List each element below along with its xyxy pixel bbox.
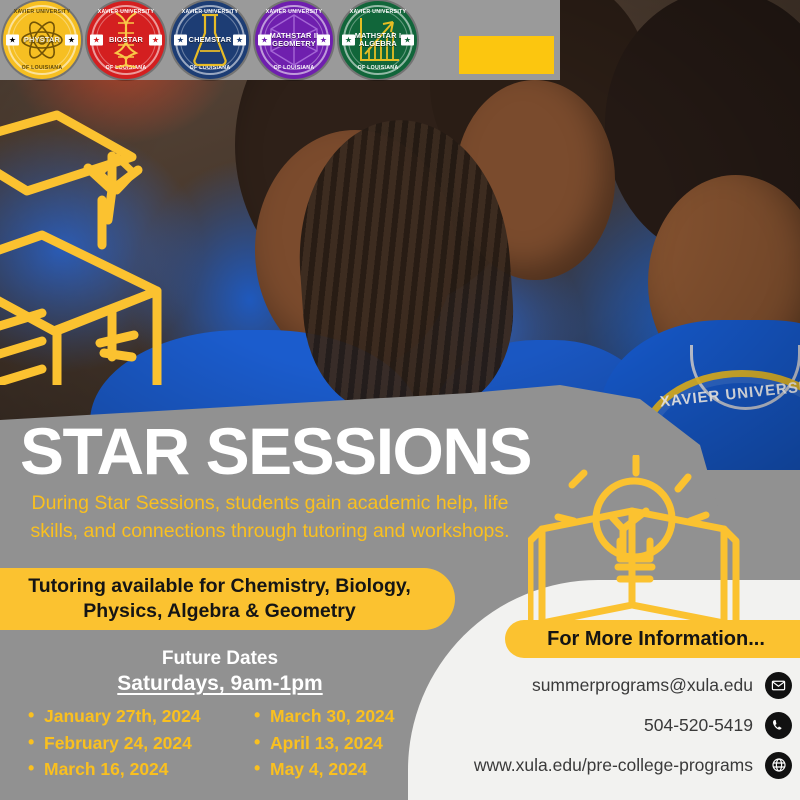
star-icon: ★ xyxy=(6,35,19,46)
star-icon: ★ xyxy=(401,35,414,46)
dates-columns: January 27th, 2024 February 24, 2024 Mar… xyxy=(28,703,428,783)
list-item: April 13, 2024 xyxy=(254,730,424,757)
seal-name: CHEMSTAR xyxy=(189,36,232,44)
contact-row-website[interactable]: www.xula.edu/pre-college-programs xyxy=(420,745,800,785)
seal-disc: XAVIER UNIVERSITY ★ ★ PHYSTAR OF LOUISIA… xyxy=(3,1,81,79)
contact-website[interactable]: www.xula.edu/pre-college-programs xyxy=(474,755,753,776)
contact-list: summerprograms@xula.edu 504-520-5419 www… xyxy=(420,665,800,785)
seal-name: BIOSTAR xyxy=(109,36,143,44)
seal-disc: XAVIER UNIVERSITY ★ ★ MATHSTAR I ALGEBRA… xyxy=(339,1,417,79)
seal-name-box: MATHSTAR I ALGEBRA xyxy=(351,30,405,50)
seal-disc: XAVIER UNIVERSITY ★ ★ CHEMSTAR OF LOUISI… xyxy=(171,1,249,79)
seal-phystar[interactable]: XAVIER UNIVERSITY ★ ★ PHYSTAR OF LOUISIA… xyxy=(0,0,84,80)
star-icon: ★ xyxy=(149,35,162,46)
list-item: January 27th, 2024 xyxy=(28,703,240,730)
star-icon: ★ xyxy=(258,35,271,46)
list-item: May 4, 2024 xyxy=(254,756,424,783)
more-info-label: For More Information... xyxy=(547,628,783,651)
poster-root: XAVIER UNIVERSITY xyxy=(0,0,800,800)
email-icon xyxy=(765,672,792,699)
program-seal-list: XAVIER UNIVERSITY ★ ★ PHYSTAR OF LOUISIA… xyxy=(0,0,420,80)
dates-heading-block: Future Dates Saturdays, 9am-1pm xyxy=(20,648,420,696)
star-icon: ★ xyxy=(90,35,103,46)
dates-heading: Future Dates xyxy=(20,648,420,670)
tutoring-banner: Tutoring available for Chemistry, Biolog… xyxy=(0,568,455,630)
list-item: March 30, 2024 xyxy=(254,703,424,730)
seal-biostar[interactable]: XAVIER UNIVERSITY ★ ★ BIOSTAR OF LOUISIA… xyxy=(84,0,168,80)
seal-disc: XAVIER UNIVERSITY ★ ★ BIOSTAR OF LOUISIA… xyxy=(87,1,165,79)
seal-name: PHYSTAR xyxy=(24,36,60,44)
seal-subname: ALGEBRA xyxy=(355,40,401,48)
lightbulb-book-icon xyxy=(528,455,743,635)
description-text: During Star Sessions, students gain acad… xyxy=(20,490,520,545)
phone-icon xyxy=(765,712,792,739)
contact-row-email[interactable]: summerprograms@xula.edu xyxy=(420,665,800,705)
list-item: February 24, 2024 xyxy=(28,730,240,757)
seal-subname: GEOMETRY xyxy=(270,40,319,48)
star-icon: ★ xyxy=(317,35,330,46)
dates-subheading: Saturdays, 9am-1pm xyxy=(20,672,420,696)
star-icon: ★ xyxy=(342,35,355,46)
seal-chemstar[interactable]: XAVIER UNIVERSITY ★ ★ CHEMSTAR OF LOUISI… xyxy=(168,0,252,80)
seal-disc: XAVIER UNIVERSITY ★ ★ MATHSTAR II GEOMET… xyxy=(255,1,333,79)
list-item: March 16, 2024 xyxy=(28,756,240,783)
seal-name-box: CHEMSTAR xyxy=(185,34,236,46)
globe-icon xyxy=(765,752,792,779)
graduation-cap-icon xyxy=(0,95,172,385)
star-icon: ★ xyxy=(65,35,78,46)
contact-email[interactable]: summerprograms@xula.edu xyxy=(532,675,753,696)
star-icon: ★ xyxy=(233,35,246,46)
blank-gold-box xyxy=(459,36,554,74)
seal-name-box: PHYSTAR xyxy=(20,34,64,46)
seal-mathstar-1[interactable]: XAVIER UNIVERSITY ★ ★ MATHSTAR I ALGEBRA… xyxy=(336,0,420,80)
tutoring-banner-text: Tutoring available for Chemistry, Biolog… xyxy=(0,574,455,625)
star-icon: ★ xyxy=(174,35,187,46)
contact-phone[interactable]: 504-520-5419 xyxy=(644,715,753,736)
contact-row-phone[interactable]: 504-520-5419 xyxy=(420,705,800,745)
dates-column-right: March 30, 2024 April 13, 2024 May 4, 202… xyxy=(254,703,424,783)
seal-mathstar-2[interactable]: XAVIER UNIVERSITY ★ ★ MATHSTAR II GEOMET… xyxy=(252,0,336,80)
dates-column-left: January 27th, 2024 February 24, 2024 Mar… xyxy=(28,703,240,783)
page-title: STAR SESSIONS xyxy=(20,418,531,484)
seal-name-box: MATHSTAR II GEOMETRY xyxy=(266,30,323,50)
seal-name-box: BIOSTAR xyxy=(105,34,147,46)
more-info-banner: For More Information... xyxy=(505,620,800,658)
